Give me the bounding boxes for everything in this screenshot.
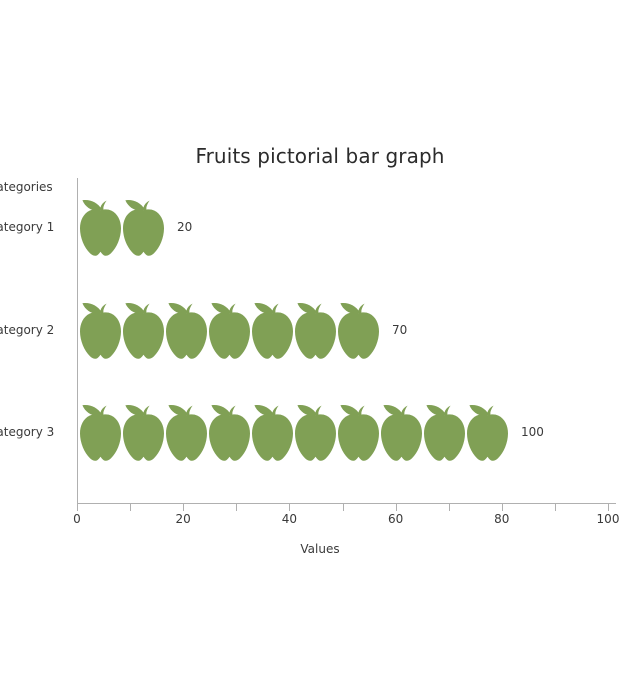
apple-icon — [380, 401, 423, 463]
apple-icon — [122, 196, 165, 258]
x-axis-tick — [502, 504, 503, 511]
x-axis-tick-label: 60 — [388, 512, 403, 526]
row-value-label: 70 — [392, 323, 407, 337]
apple-icon — [79, 196, 122, 258]
apple-icon — [122, 401, 165, 463]
y-axis-title: Categories — [0, 180, 53, 194]
x-axis-tick-label: 100 — [597, 512, 620, 526]
x-axis-title: Values — [0, 542, 640, 556]
apple-icon — [466, 401, 509, 463]
y-axis-category-label: Category 2 — [0, 323, 54, 337]
apple-icon — [251, 299, 294, 361]
apple-icon — [122, 299, 165, 361]
x-axis-tick-label: 20 — [176, 512, 191, 526]
chart-title: Fruits pictorial bar graph — [0, 144, 640, 168]
x-axis-tick — [130, 504, 131, 511]
apple-icon — [294, 401, 337, 463]
y-axis-category-label: Category 1 — [0, 220, 54, 234]
pictogram-row — [79, 294, 380, 366]
pictogram-row — [79, 191, 165, 263]
apple-icon — [208, 401, 251, 463]
x-axis-tick — [289, 504, 290, 511]
y-axis-category-label: Category 3 — [0, 425, 54, 439]
x-axis-tick — [396, 504, 397, 511]
x-axis-tick-label: 40 — [282, 512, 297, 526]
apple-icon — [208, 299, 251, 361]
x-axis-tick-label: 0 — [73, 512, 81, 526]
pictogram-row — [79, 396, 509, 468]
x-axis-tick-label: 80 — [494, 512, 509, 526]
apple-icon — [251, 401, 294, 463]
x-axis-tick — [608, 504, 609, 511]
pictorial-bar-chart: Fruits pictorial bar graph Categories Ca… — [0, 0, 640, 687]
x-axis-line — [77, 503, 616, 504]
x-axis-tick — [343, 504, 344, 511]
apple-icon — [79, 299, 122, 361]
x-axis-tick — [449, 504, 450, 511]
row-value-label: 100 — [521, 425, 544, 439]
row-value-label: 20 — [177, 220, 192, 234]
x-axis-tick — [555, 504, 556, 511]
x-axis-tick — [183, 504, 184, 511]
apple-icon — [337, 299, 380, 361]
x-axis-tick — [236, 504, 237, 511]
apple-icon — [165, 299, 208, 361]
apple-icon — [165, 401, 208, 463]
apple-icon — [423, 401, 466, 463]
apple-icon — [294, 299, 337, 361]
apple-icon — [79, 401, 122, 463]
y-axis-line — [77, 178, 78, 504]
x-axis-tick — [77, 504, 78, 511]
apple-icon — [337, 401, 380, 463]
